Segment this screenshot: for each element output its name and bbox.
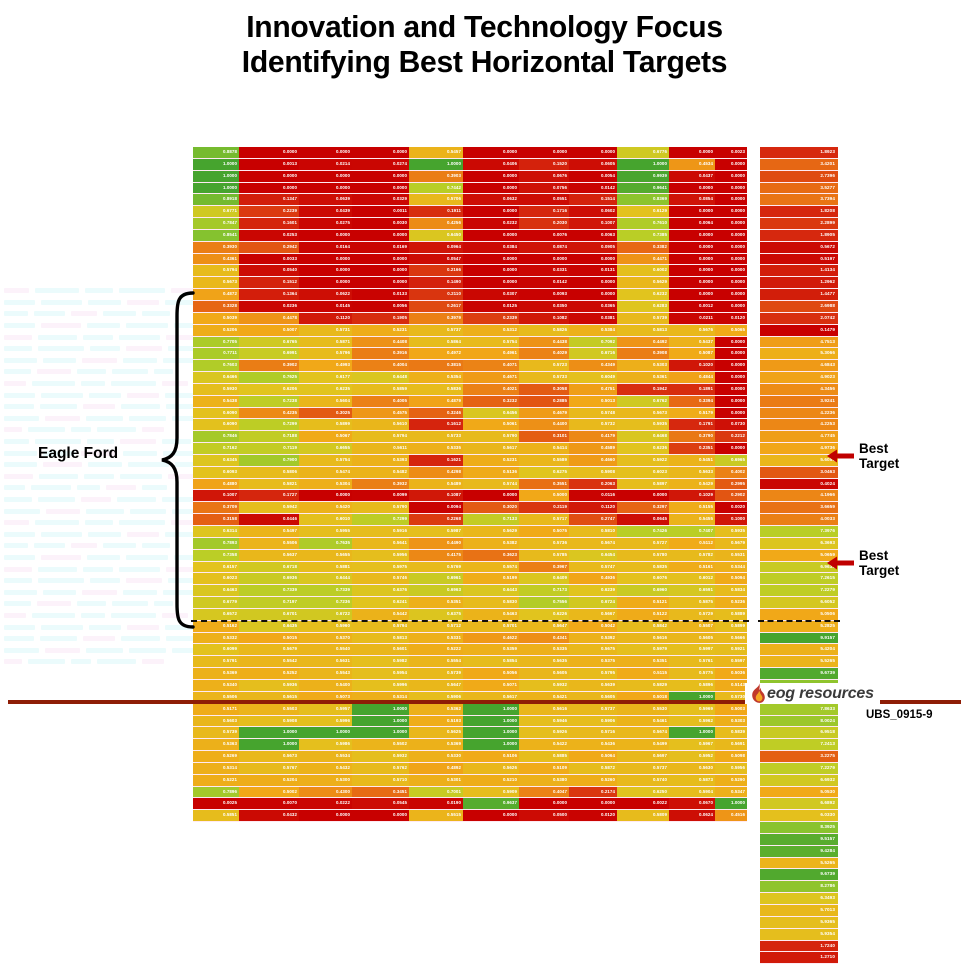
heatmap-cell: 0.0000 [299, 147, 352, 158]
artifact-cell [4, 381, 26, 386]
heatmap-cell: 0.2995 [715, 478, 747, 490]
artifact-cell [37, 601, 71, 606]
heatmap-cell: 0.5106 [463, 751, 519, 763]
artifact-cell [88, 532, 121, 537]
artifact-cell [38, 497, 75, 502]
composite-score-cell: 9.4284 [760, 845, 838, 857]
artifact-cell [41, 323, 81, 328]
composite-score-cell: 3.6659 [760, 502, 838, 514]
heatmap-cell: 0.6345 [193, 454, 239, 466]
composite-score-row: 4.2236 [760, 407, 838, 419]
heatmap-cell: 0.7625 [239, 372, 299, 384]
heatmap-cell: 0.1612 [409, 419, 463, 431]
heatmap-cell: 0.0384 [463, 241, 519, 253]
heatmap-cell: 0.7162 [193, 443, 239, 455]
heatmap-cell: 0.5899 [715, 620, 747, 632]
composite-score-row: 9.6739 [760, 668, 838, 680]
heatmap-cell: 0.0000 [715, 182, 747, 194]
heatmap-cell: 0.2351 [669, 443, 715, 455]
heatmap-cell: 0.4478 [239, 312, 299, 324]
heatmap-cell: 0.6771 [193, 206, 239, 218]
artifact-cell [37, 369, 71, 374]
heatmap-cell: 0.5679 [239, 644, 299, 656]
heatmap-cell: 0.6572 [193, 608, 239, 620]
composite-score-cell: 7.2615 [760, 573, 838, 585]
composite-score-cell: 5.5265 [760, 857, 838, 869]
heatmap-cell: 0.2110 [409, 289, 463, 301]
heatmap-cell: 0.0000 [352, 253, 409, 265]
heatmap-cell: 0.7442 [409, 182, 463, 194]
heatmap-cell: 0.5921 [715, 644, 747, 656]
composite-score-cell: 5.3066 [760, 348, 838, 360]
heatmap-cell: 0.5098 [715, 751, 747, 763]
heatmap-cell: 0.7385 [617, 229, 669, 241]
artifact-cell [4, 543, 28, 548]
heatmap-cell: 0.0000 [299, 490, 352, 502]
heatmap-cell: 0.7896 [193, 786, 239, 798]
composite-score-row: 4.9023 [760, 372, 838, 384]
artifact-cell [119, 288, 165, 293]
heatmap-cell: 0.5221 [193, 774, 239, 786]
heatmap-cell: 1.0000 [352, 703, 409, 715]
heatmap-cell: 0.3902 [239, 360, 299, 372]
artifact-cell [85, 288, 112, 293]
heatmap-cell: 0.5626 [463, 762, 519, 774]
heatmap-cell: 0.0964 [409, 241, 463, 253]
heatmap-cell: 0.7197 [239, 597, 299, 609]
heatmap-cell: 0.0545 [352, 798, 409, 810]
artifact-cell [121, 404, 160, 409]
heatmap-cell: 0.5908 [239, 715, 299, 727]
heatmap-cell: 0.5039 [193, 312, 239, 324]
heatmap-cell: 0.5881 [299, 561, 352, 573]
heatmap-cell: 0.1520 [519, 158, 569, 170]
heatmap-cell: 0.5605 [669, 632, 715, 644]
heatmap-cell: 0.5629 [617, 277, 669, 289]
heatmap-cell: 0.6591 [669, 585, 715, 597]
artifact-cell [112, 369, 148, 374]
artifact-cell [4, 300, 35, 305]
heatmap-cell: 0.5667 [569, 608, 617, 620]
heatmap-cell: 0.5363 [193, 739, 239, 751]
composite-score-row: 5.0506 [760, 608, 838, 620]
heatmap-cell: 0.5303 [715, 715, 747, 727]
best-target-1-line-2: Target [859, 456, 899, 471]
heatmap-row: 0.60900.72990.58990.56100.16120.50610.44… [193, 419, 747, 431]
artifact-cell [77, 485, 100, 490]
heatmap-cell: 1.0000 [193, 182, 239, 194]
heatmap-cell: 0.5574 [463, 561, 519, 573]
heatmap-cell: 0.0164 [299, 241, 352, 253]
artifact-cell [4, 474, 33, 479]
heatmap-cell: 0.5617 [463, 443, 519, 455]
heatmap-cell: 0.5996 [299, 715, 352, 727]
heatmap-cell: 0.4961 [463, 348, 519, 360]
heatmap-cell: 0.5515 [409, 810, 463, 822]
heatmap-cell: 0.5673 [239, 751, 299, 763]
composite-score-cell: 5.0530 [760, 786, 838, 798]
artifact-cell [41, 300, 82, 305]
composite-score-cell: 8.3925 [760, 822, 838, 834]
best-target-1-line-1: Best [859, 441, 899, 456]
heatmap-row: 0.73580.56370.56550.59560.41750.36230.57… [193, 549, 747, 561]
heatmap-cell: 0.5633 [669, 466, 715, 478]
heatmap-cell: 0.6314 [193, 526, 239, 538]
heatmap-cell: 0.7299 [239, 419, 299, 431]
composite-score-cell: 1.4134 [760, 265, 838, 277]
heatmap-cell: 0.5003 [715, 703, 747, 715]
artifact-cell [129, 648, 165, 653]
artifact-cell [4, 288, 29, 293]
heatmap-cell: 0.0000 [669, 277, 715, 289]
heatmap-cell: 0.5354 [409, 372, 463, 384]
heatmap-cell: 1.0000 [352, 727, 409, 739]
heatmap-row: 0.00250.00700.02220.05450.01900.96370.00… [193, 798, 747, 810]
artifact-cell [111, 381, 156, 386]
heatmap-row: 0.10070.17270.00000.00990.10870.00000.50… [193, 490, 747, 502]
heatmap-row: 0.67790.71970.72360.62410.53510.58300.75… [193, 597, 747, 609]
heatmap-cell: 0.5422 [519, 739, 569, 751]
heatmap-cell: 0.4175 [409, 549, 463, 561]
composite-score-row: 6.3493 [760, 893, 838, 905]
heatmap-cell: 0.0214 [299, 158, 352, 170]
artifact-cell [4, 416, 39, 421]
heatmap-cell: 0.3158 [193, 514, 239, 526]
heatmap-cell: 0.5813 [352, 632, 409, 644]
artifact-cell [38, 578, 84, 583]
heatmap-cell: 0.5746 [352, 573, 409, 585]
heatmap-cell: 0.0639 [299, 194, 352, 206]
heatmap-row: 0.33280.02360.01450.00560.26170.01250.03… [193, 300, 747, 312]
heatmap-row: 0.53690.52520.55430.59540.57390.50560.56… [193, 668, 747, 680]
heatmap-row: 0.53631.00000.59860.55020.53691.00000.54… [193, 739, 747, 751]
heatmap-cell: 0.8878 [193, 147, 239, 158]
heatmap-cell: 0.0000 [617, 490, 669, 502]
heatmap-cell: 0.0350 [519, 300, 569, 312]
heatmap-cell: 0.0645 [617, 514, 669, 526]
composite-score-cell: 6.3693 [760, 537, 838, 549]
heatmap-cell: 0.6454 [569, 549, 617, 561]
heatmap-cell: 0.5420 [299, 502, 352, 514]
heatmap-cell: 0.6762 [617, 395, 669, 407]
heatmap-cell: 0.5836 [409, 383, 463, 395]
heatmap-cell: 0.5987 [409, 526, 463, 538]
heatmap-cell: 1.0000 [239, 739, 299, 751]
heatmap-cell: 0.0000 [715, 443, 747, 455]
composite-score-cell: 3.2275 [760, 751, 838, 763]
heatmap-cell: 0.0000 [715, 253, 747, 265]
artifact-cell [111, 613, 156, 618]
heatmap-cell: 0.1891 [669, 383, 715, 395]
heatmap-cell: 0.5754 [463, 336, 519, 348]
composite-score-cell: 5.4204 [760, 644, 838, 656]
composite-score-cell: 3.7394 [760, 194, 838, 206]
artifact-cell [81, 613, 105, 618]
heatmap-cell: 0.0020 [715, 502, 747, 514]
heatmap-cell: 0.5767 [239, 762, 299, 774]
heatmap-cell: 0.6724 [569, 597, 617, 609]
composite-score-row: 7.2279 [760, 762, 838, 774]
heatmap-cell: 0.5674 [617, 727, 669, 739]
heatmap-cell: 0.0307 [463, 289, 519, 301]
heatmap-cell: 0.0432 [239, 810, 299, 822]
composite-score-row: 4.0033 [760, 514, 838, 526]
heatmap-cell: 0.3623 [463, 549, 519, 561]
heatmap-row: 0.48800.58210.53040.39320.54890.57440.35… [193, 478, 747, 490]
heatmap-cell: 0.1512 [239, 277, 299, 289]
heatmap-cell: 0.0131 [569, 265, 617, 277]
heatmap-cell: 0.0000 [569, 277, 617, 289]
artifact-cell [83, 404, 115, 409]
heatmap-row: 0.53140.57670.54320.57620.48920.56260.51… [193, 762, 747, 774]
heatmap-cell: 0.8918 [193, 194, 239, 206]
composite-score-row: 5.7013 [760, 905, 838, 917]
heatmap-cell: 1.0000 [409, 158, 463, 170]
artifact-cell [4, 346, 32, 351]
heatmap-cell: 0.5629 [463, 526, 519, 538]
heatmap-cell: 0.2212 [715, 431, 747, 443]
heatmap-cell: 0.3394 [669, 395, 715, 407]
arrow-left-icon [827, 555, 855, 571]
artifact-cell [87, 439, 114, 444]
heatmap-cell: 0.6236 [617, 443, 669, 455]
heatmap-row: 0.65720.67010.67220.54420.63750.54630.62… [193, 608, 747, 620]
heatmap-cell: 0.0000 [352, 265, 409, 277]
heatmap-row: 0.52210.52040.53000.57100.53010.52100.53… [193, 774, 747, 786]
arrow-left-icon [827, 448, 855, 464]
heatmap-cell: 0.0000 [299, 253, 352, 265]
heatmap-cell: 0.1020 [669, 360, 715, 372]
heatmap-cell: 0.0000 [715, 407, 747, 419]
best-target-callout-1: Best Target [855, 441, 899, 471]
composite-score-cell: 9.6739 [760, 869, 838, 881]
heatmap-cell: 0.0000 [669, 229, 715, 241]
composite-score-row: 1.8923 [760, 147, 838, 158]
heatmap-cell: 0.5414 [519, 443, 569, 455]
heatmap-cell: 0.5269 [193, 751, 239, 763]
heatmap-cell: 0.5013 [569, 395, 617, 407]
heatmap-cell: 0.5932 [352, 751, 409, 763]
heatmap-cell: 0.0000 [715, 206, 747, 218]
heatmap-cell: 0.0000 [669, 147, 715, 158]
heatmap-cell: 0.4516 [715, 810, 747, 822]
artifact-cell [142, 659, 164, 664]
heatmap-row: 0.71620.71190.66550.56110.53350.56170.54… [193, 443, 747, 455]
heatmap-cell: 0.0605 [569, 158, 617, 170]
heatmap-cell: 0.5206 [193, 324, 239, 336]
heatmap-cell: 0.4534 [669, 158, 715, 170]
composite-score-cell: 6.9518 [760, 727, 838, 739]
heatmap-cell: 0.1621 [409, 454, 463, 466]
heatmap-cell: 0.4438 [519, 336, 569, 348]
artifact-cell [4, 323, 35, 328]
heatmap-cell: 0.6232 [617, 289, 669, 301]
heatmap-cell: 0.3908 [617, 348, 669, 360]
composite-score-row: 6.6052 [760, 597, 838, 609]
eagle-ford-label: Eagle Ford [38, 445, 118, 463]
composite-score-row: 5.3066 [760, 348, 838, 360]
composite-score-cell: 6.6052 [760, 597, 838, 609]
heatmap-cell: 0.2268 [409, 514, 463, 526]
heatmap-cell: 0.6239 [569, 585, 617, 597]
artifact-cell [41, 555, 81, 560]
heatmap-row: 0.31580.04460.60100.72990.22680.71330.57… [193, 514, 747, 526]
heatmap-cell: 0.0000 [239, 170, 299, 182]
heatmap-cell: 0.3246 [409, 407, 463, 419]
artifact-cell [4, 369, 31, 374]
heatmap-cell: 0.0063 [569, 229, 617, 241]
composite-score-row: 3.7394 [760, 194, 838, 206]
composite-score-cell: 4.2236 [760, 407, 838, 419]
heatmap-cell: 0.0329 [352, 194, 409, 206]
heatmap-cell: 0.6444 [299, 573, 352, 585]
heatmap-cell: 0.5362 [409, 703, 463, 715]
heatmap-cell: 0.5655 [299, 549, 352, 561]
artifact-cell [123, 358, 157, 363]
heatmap-cell: 0.6779 [193, 597, 239, 609]
heatmap-cell: 0.5935 [617, 419, 669, 431]
heatmap-cell: 0.0602 [569, 206, 617, 218]
composite-score-cell: 7.2279 [760, 585, 838, 597]
heatmap-cell: 0.6093 [193, 466, 239, 478]
heatmap-cell: 0.5597 [715, 656, 747, 668]
composite-score-row: 5.4204 [760, 644, 838, 656]
heatmap-cell: 0.0000 [463, 170, 519, 182]
heatmap-cell: 0.5347 [715, 786, 747, 798]
heatmap-cell: 0.0381 [569, 312, 617, 324]
heatmap-cell: 0.5542 [239, 656, 299, 668]
heatmap-cell: 0.5340 [193, 679, 239, 691]
heatmap-cell: 0.2119 [519, 502, 569, 514]
composite-score-row: 1.4134 [760, 265, 838, 277]
heatmap-cell: 0.5754 [299, 454, 352, 466]
heatmap-cell: 0.5835 [617, 561, 669, 573]
heatmap-cell: 0.5854 [463, 656, 519, 668]
heatmap-cell: 0.5002 [239, 786, 299, 798]
artifact-cell [126, 578, 163, 583]
heatmap-cell: 0.4005 [352, 395, 409, 407]
heatmap-cell: 0.0551 [519, 194, 569, 206]
heatmap-cell: 0.5370 [299, 632, 352, 644]
best-target-2-line-1: Best [859, 548, 899, 563]
heatmap-cell: 0.5996 [352, 679, 409, 691]
best-target-callout-2: Best Target [855, 548, 899, 578]
heatmap-row: 0.43610.00330.00000.00000.05470.00000.00… [193, 253, 747, 265]
composite-score-row: 4.1966 [760, 490, 838, 502]
heatmap-cell: 0.3101 [519, 431, 569, 443]
heatmap-cell: 0.0000 [715, 360, 747, 372]
heatmap-cell: 0.5499 [617, 739, 669, 751]
heatmap-cell: 0.0624 [669, 810, 715, 822]
heatmap-cell: 1.0000 [193, 158, 239, 170]
artifact-cell [38, 567, 77, 572]
heatmap-cell: 0.0000 [299, 182, 352, 194]
composite-score-cell: 5.2825 [760, 620, 838, 632]
heatmap-cell: 0.0013 [239, 158, 299, 170]
heatmap-cell: 0.5359 [463, 644, 519, 656]
best-target-label-1: Best Target [859, 441, 899, 471]
heatmap-cell: 0.5727 [617, 537, 669, 549]
composite-score-row: 9.9157 [760, 632, 838, 644]
heatmap-cell: 0.5260 [569, 774, 617, 786]
heatmap-cell: 0.5036 [715, 668, 747, 680]
heatmap-cell: 0.0632 [463, 194, 519, 206]
heatmap-cell: 0.2030 [519, 218, 569, 230]
heatmap-cell: 0.1087 [409, 490, 463, 502]
heatmap-cell: 0.2174 [569, 786, 617, 798]
heatmap-cell: 0.5710 [352, 774, 409, 786]
composite-score-cell: 2.0742 [760, 312, 838, 324]
heatmap-cell: 0.5611 [352, 443, 409, 455]
heatmap-cell: 0.5361 [617, 372, 669, 384]
heatmap-cell: 0.0000 [299, 277, 352, 289]
composite-score-row: 9.6739 [760, 869, 838, 881]
composite-score-cell: 5.0506 [760, 608, 838, 620]
composite-score-cell: 5.5265 [760, 656, 838, 668]
heatmap-cell: 0.0000 [299, 265, 352, 277]
heatmap-cell: 0.7358 [193, 549, 239, 561]
heatmap-cell: 0.5437 [669, 336, 715, 348]
artifact-cell [97, 659, 136, 664]
heatmap-cell: 0.5821 [239, 478, 299, 490]
heatmap-cell: 0.1791 [669, 419, 715, 431]
heatmap-cell: 0.0854 [669, 194, 715, 206]
artifact-cell [38, 346, 84, 351]
heatmap-cell: 0.0000 [352, 229, 409, 241]
page-title: Innovation and Technology Focus Identify… [0, 10, 969, 79]
heatmap-cell: 0.0000 [715, 241, 747, 253]
heatmap-cell: 0.5204 [239, 774, 299, 786]
heatmap-cell: 0.2747 [569, 514, 617, 526]
heatmap-cell: 0.5489 [409, 478, 463, 490]
heatmap-cell: 0.5400 [299, 679, 352, 691]
heatmap-cell: 0.3979 [409, 312, 463, 324]
artifact-cell [32, 381, 75, 386]
heatmap-cell: 0.5739 [617, 312, 669, 324]
heatmap-cell: 0.7705 [193, 336, 239, 348]
artifact-cell [119, 567, 160, 572]
artifact-cell [127, 625, 159, 630]
heatmap-row: 0.64630.73390.73390.63760.69630.64430.71… [193, 585, 747, 597]
heatmap-cell: 0.5748 [569, 407, 617, 419]
composite-score-cell: 5.9365 [760, 916, 838, 928]
artifact-cell [4, 509, 40, 514]
composite-score-row: 1.7240 [760, 940, 838, 952]
heatmap-row: 0.64660.76250.61770.64480.53540.46710.57… [193, 372, 747, 384]
artifact-cell [89, 393, 122, 398]
heatmap-cell: 0.0000 [669, 206, 715, 218]
heatmap-cell: 0.4361 [193, 253, 239, 265]
artifact-cell [120, 439, 156, 444]
heatmap-cell: 0.5236 [715, 597, 747, 609]
heatmap-cell: 0.0000 [463, 253, 519, 265]
composite-score-cell: 3.5277 [760, 182, 838, 194]
heatmap-cell: 0.5436 [569, 739, 617, 751]
artifact-cell [35, 520, 79, 525]
heatmap-cell: 0.0000 [519, 253, 569, 265]
heatmap-cell: 0.0000 [715, 395, 747, 407]
composite-score-row: 4.3456 [760, 383, 838, 395]
heatmap-cell: 0.5834 [715, 585, 747, 597]
heatmap-cell: 0.6129 [617, 206, 669, 218]
composite-score-row: 8.2786 [760, 881, 838, 893]
heatmap-row: 0.78460.71880.50670.57940.57330.57900.31… [193, 431, 747, 443]
heatmap-cell: 0.5094 [715, 573, 747, 585]
heatmap-cell: 0.5830 [463, 597, 519, 609]
heatmap-row: 0.78930.55060.76350.56410.44900.53820.57… [193, 537, 747, 549]
artifact-cell [103, 543, 136, 548]
heatmap-cell: 0.5503 [239, 703, 299, 715]
